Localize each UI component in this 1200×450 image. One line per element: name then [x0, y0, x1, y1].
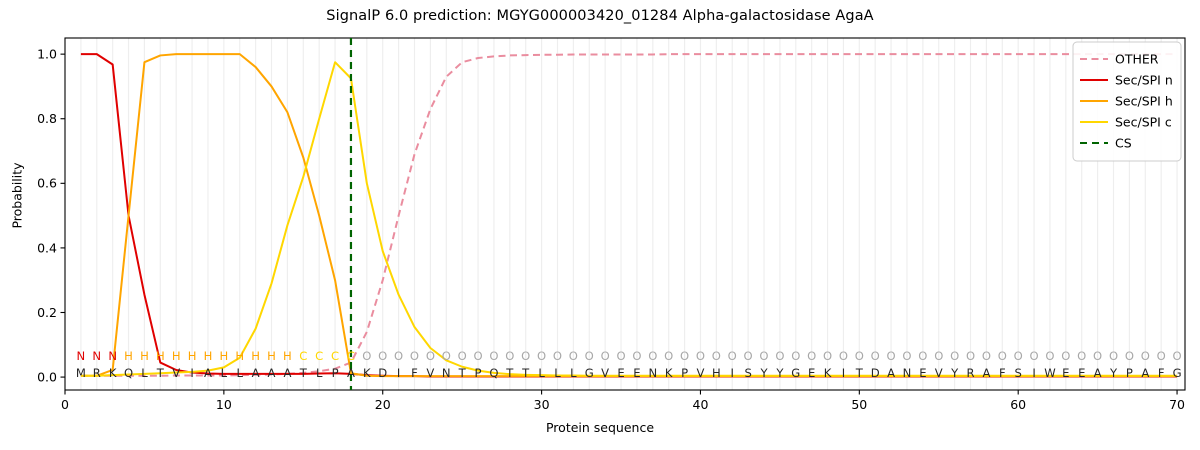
region-letter: O — [1125, 349, 1134, 363]
curve-other — [81, 54, 1177, 376]
sequence-letter: H — [712, 366, 721, 380]
y-axis-ticks: 0.00.20.40.60.81.0 — [37, 47, 65, 385]
region-letter: O — [648, 349, 657, 363]
legend-label-sec-spi-c: Sec/SPI c — [1115, 114, 1172, 129]
sequence-letter: N — [648, 366, 657, 380]
region-letter: H — [267, 349, 276, 363]
legend: OTHERSec/SPI nSec/SPI hSec/SPI cCS — [1073, 42, 1181, 161]
region-letter: H — [220, 349, 229, 363]
region-letter: O — [855, 349, 864, 363]
y-tick-label: 0.2 — [37, 305, 57, 320]
sequence-letter: L — [570, 366, 577, 380]
region-letter: O — [616, 349, 625, 363]
sequence-letter: L — [554, 366, 561, 380]
region-letter: O — [458, 349, 467, 363]
sequence-letter: E — [1078, 366, 1085, 380]
sequence-letter: S — [744, 366, 751, 380]
region-letter: O — [807, 349, 816, 363]
region-letter: O — [728, 349, 737, 363]
region-letter: O — [839, 349, 848, 363]
region-letter: O — [823, 349, 832, 363]
sequence-letter: Q — [489, 366, 498, 380]
region-letter: O — [871, 349, 880, 363]
signalp-prediction-figure: SignalP 6.0 prediction: MGYG000003420_01… — [0, 0, 1200, 450]
sequence-letter: A — [283, 366, 291, 380]
region-letter: O — [918, 349, 927, 363]
region-letter: O — [934, 349, 943, 363]
region-letter: O — [569, 349, 578, 363]
region-letter: H — [156, 349, 165, 363]
legend-label-sec-spi-n: Sec/SPI n — [1115, 72, 1173, 87]
region-letter: O — [473, 349, 482, 363]
sequence-letter: S — [1015, 366, 1022, 380]
plot-canvas: 0102030405060700.00.20.40.60.81.0NNNHHHH… — [0, 0, 1200, 450]
x-axis-ticks: 010203040506070 — [61, 390, 1185, 412]
sequence-letter: I — [842, 366, 845, 380]
sequence-letter: F — [999, 366, 1006, 380]
curve-sec-spi-c — [81, 62, 1177, 376]
region-letter: O — [759, 349, 768, 363]
sequence-letter: A — [982, 366, 990, 380]
region-letter: O — [489, 349, 498, 363]
sequence-letter: T — [299, 366, 308, 380]
region-letter: O — [410, 349, 419, 363]
region-letter: C — [347, 349, 355, 363]
region-letter: O — [982, 349, 991, 363]
region-letter: O — [791, 349, 800, 363]
sequence-letter: K — [665, 366, 673, 380]
sequence-letter: E — [633, 366, 640, 380]
y-tick-label: 0.0 — [37, 369, 57, 384]
sequence-letter: P — [681, 366, 688, 380]
region-letter: H — [251, 349, 260, 363]
sequence-letter: P — [1126, 366, 1133, 380]
sequence-letter: N — [442, 366, 451, 380]
region-letter: O — [664, 349, 673, 363]
sequence-letter: A — [1094, 366, 1102, 380]
region-letter: C — [331, 349, 339, 363]
sequence-letter: F — [411, 366, 418, 380]
region-letter: H — [188, 349, 197, 363]
x-tick-label: 20 — [375, 397, 391, 412]
plot-frame — [65, 38, 1185, 390]
region-letter: O — [632, 349, 641, 363]
sequence-letter: A — [252, 366, 260, 380]
region-letter: O — [1077, 349, 1086, 363]
sequence-letter: F — [1158, 366, 1165, 380]
region-letter: H — [140, 349, 149, 363]
region-letter: O — [966, 349, 975, 363]
sequence-letter: E — [919, 366, 926, 380]
sequence-letter: W — [1044, 366, 1056, 380]
y-tick-label: 0.8 — [37, 111, 57, 126]
x-tick-label: 50 — [851, 397, 867, 412]
sequence-letter: I — [397, 366, 400, 380]
region-letter: O — [1014, 349, 1023, 363]
sequence-letter: Y — [950, 366, 959, 380]
sequence-letter: L — [237, 366, 244, 380]
region-letter: O — [378, 349, 387, 363]
region-letter: H — [204, 349, 213, 363]
sequence-letter: D — [378, 366, 387, 380]
sequence-letter: E — [1062, 366, 1069, 380]
sequence-letter: Y — [775, 366, 784, 380]
sequence-letter: K — [109, 366, 117, 380]
sequence-letter: A — [204, 366, 212, 380]
x-tick-label: 70 — [1169, 397, 1185, 412]
region-letter: O — [537, 349, 546, 363]
sequence-letter: N — [903, 366, 912, 380]
sequence-letter: M — [76, 366, 86, 380]
sequence-letter: L — [538, 366, 545, 380]
data-curves — [81, 54, 1177, 376]
legend-label-other: OTHER — [1115, 51, 1159, 66]
sequence-letter: G — [1173, 366, 1182, 380]
region-letter: C — [315, 349, 323, 363]
region-letter: O — [601, 349, 610, 363]
sequence-letter: V — [172, 366, 180, 380]
region-letter: H — [172, 349, 181, 363]
curve-sec-spi-h — [81, 54, 1177, 376]
x-tick-label: 30 — [534, 397, 550, 412]
curve-sec-spi-n — [81, 54, 1177, 376]
sequence-letter: Y — [759, 366, 768, 380]
sequence-letter: E — [617, 366, 624, 380]
sequence-letter: T — [458, 366, 467, 380]
sequence-letter: V — [696, 366, 704, 380]
sequence-letter: D — [871, 366, 880, 380]
sequence-letter: T — [505, 366, 514, 380]
sequence-letter: T — [521, 366, 530, 380]
region-letter: O — [696, 349, 705, 363]
gridlines — [81, 38, 1177, 390]
region-letter: O — [902, 349, 911, 363]
region-letter: O — [1141, 349, 1150, 363]
x-tick-label: 40 — [693, 397, 709, 412]
region-letter: O — [744, 349, 753, 363]
region-letter: O — [585, 349, 594, 363]
region-letter: O — [505, 349, 514, 363]
sequence-letter: V — [935, 366, 943, 380]
sequence-letter: Q — [124, 366, 133, 380]
y-tick-label: 0.4 — [37, 240, 57, 255]
sequence-letter: A — [887, 366, 895, 380]
sequence-letter: P — [332, 366, 339, 380]
y-tick-label: 0.6 — [37, 176, 57, 191]
region-letter: O — [1157, 349, 1166, 363]
region-letter: O — [887, 349, 896, 363]
sequence-letter: I — [1032, 366, 1035, 380]
x-tick-label: 0 — [61, 397, 69, 412]
sequence-letter: G — [791, 366, 800, 380]
region-letter: O — [394, 349, 403, 363]
sequence-letter: K — [363, 366, 371, 380]
region-annotation-row: NNNHHHHHHHHHHHCCCCOOOOOOOOOOOOOOOOOOOOOO… — [77, 349, 1182, 363]
legend-label-sec-spi-h: Sec/SPI h — [1115, 93, 1173, 108]
region-letter: O — [442, 349, 451, 363]
region-letter: O — [998, 349, 1007, 363]
sequence-letter: G — [585, 366, 594, 380]
sequence-letter: A — [347, 366, 355, 380]
sequence-letter: E — [808, 366, 815, 380]
sequence-letter: P — [475, 366, 482, 380]
region-letter: O — [1061, 349, 1070, 363]
region-letter: O — [1172, 349, 1181, 363]
sequence-letter: L — [221, 366, 228, 380]
region-letter: C — [299, 349, 307, 363]
sequence-letter: I — [731, 366, 734, 380]
region-letter: O — [1109, 349, 1118, 363]
region-letter: O — [553, 349, 562, 363]
region-letter: O — [362, 349, 371, 363]
sequence-letter: Y — [1109, 366, 1118, 380]
sequence-letter: L — [316, 366, 323, 380]
region-letter: O — [712, 349, 721, 363]
sequence-letter: K — [824, 366, 832, 380]
sequence-letter: A — [1141, 366, 1149, 380]
region-letter: H — [283, 349, 292, 363]
region-letter: H — [235, 349, 244, 363]
region-letter: O — [1030, 349, 1039, 363]
region-letter: N — [92, 349, 101, 363]
region-letter: H — [124, 349, 133, 363]
legend-label-cs: CS — [1115, 135, 1132, 150]
sequence-letter: A — [268, 366, 276, 380]
x-tick-label: 10 — [216, 397, 232, 412]
sequence-letter: I — [190, 366, 193, 380]
region-letter: O — [426, 349, 435, 363]
region-letter: O — [521, 349, 530, 363]
sequence-letter: T — [855, 366, 864, 380]
y-tick-label: 1.0 — [37, 47, 57, 62]
sequence-letter: T — [156, 366, 165, 380]
sequence-letter: L — [141, 366, 148, 380]
region-letter: O — [1045, 349, 1054, 363]
region-letter: N — [77, 349, 86, 363]
sequence-letter: R — [967, 366, 975, 380]
sequence-letter: V — [426, 366, 434, 380]
region-letter: O — [1093, 349, 1102, 363]
region-letter: N — [108, 349, 117, 363]
region-letter: O — [950, 349, 959, 363]
sequence-letter: R — [93, 366, 101, 380]
region-letter: O — [775, 349, 784, 363]
x-tick-label: 60 — [1010, 397, 1026, 412]
sequence-annotation-row: MRKQLTVIALLAAATLPAKDIFVNTPQTTLLLGVEENKPV… — [76, 366, 1182, 380]
sequence-letter: V — [601, 366, 609, 380]
region-letter: O — [680, 349, 689, 363]
